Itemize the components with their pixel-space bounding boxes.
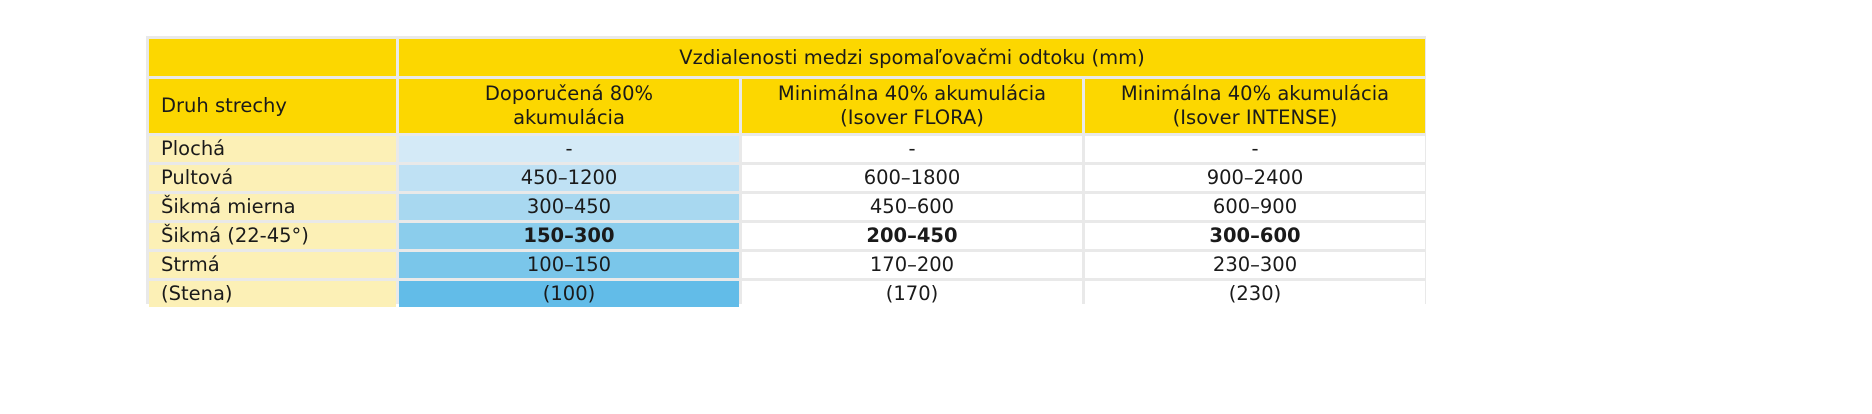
- cell-flora: 450–600: [742, 194, 1082, 220]
- table-row: Šikmá mierna 300–450 450–600 600–900: [149, 194, 1425, 220]
- cell-recommended: -: [399, 136, 739, 162]
- cell-recommended: 300–450: [399, 194, 739, 220]
- row-label: Šikmá (22-45°): [149, 223, 396, 249]
- cell-flora: 170–200: [742, 252, 1082, 278]
- table-row: Pultová 450–1200 600–1800 900–2400: [149, 165, 1425, 191]
- header-minimal-40-intense: Minimálna 40% akumulácia (Isover INTENSE…: [1085, 79, 1425, 133]
- cell-flora: (170): [742, 281, 1082, 307]
- cell-intense: 900–2400: [1085, 165, 1425, 191]
- cell-recommended: 150–300: [399, 223, 739, 249]
- header-roof-type: Druh strechy: [149, 79, 396, 133]
- header-minimal-40-intense-line2: (Isover INTENSE): [1173, 106, 1338, 129]
- table-row: Strmá 100–150 170–200 230–300: [149, 252, 1425, 278]
- table-row: (Stena) (100) (170) (230): [149, 281, 1425, 307]
- row-label: Pultová: [149, 165, 396, 191]
- header-recommended-80: Doporučená 80% akumulácia: [399, 79, 739, 133]
- row-label: Plochá: [149, 136, 396, 162]
- cell-recommended: (100): [399, 281, 739, 307]
- row-label: (Stena): [149, 281, 396, 307]
- header-minimal-40-flora-line1: Minimálna 40% akumulácia: [778, 82, 1046, 105]
- cell-intense: 300–600: [1085, 223, 1425, 249]
- cell-recommended: 100–150: [399, 252, 739, 278]
- cell-intense: 230–300: [1085, 252, 1425, 278]
- row-label: Šikmá mierna: [149, 194, 396, 220]
- cell-intense: -: [1085, 136, 1425, 162]
- distance-table-container: Vzdialenosti medzi spomaľovačmi odtoku (…: [146, 36, 1426, 304]
- table-row: Plochá - - -: [149, 136, 1425, 162]
- table-title: Vzdialenosti medzi spomaľovačmi odtoku (…: [399, 39, 1425, 76]
- cell-recommended: 450–1200: [399, 165, 739, 191]
- header-recommended-80-line1: Doporučená 80%: [485, 82, 653, 105]
- header-minimal-40-flora: Minimálna 40% akumulácia (Isover FLORA): [742, 79, 1082, 133]
- cell-flora: -: [742, 136, 1082, 162]
- cell-flora: 600–1800: [742, 165, 1082, 191]
- table-header-row: Druh strechy Doporučená 80% akumulácia M…: [149, 79, 1425, 133]
- header-minimal-40-intense-line1: Minimálna 40% akumulácia: [1121, 82, 1389, 105]
- cell-intense: 600–900: [1085, 194, 1425, 220]
- cell-flora: 200–450: [742, 223, 1082, 249]
- header-recommended-80-line2: akumulácia: [513, 106, 625, 129]
- table-row: Šikmá (22-45°) 150–300 200–450 300–600: [149, 223, 1425, 249]
- row-label: Strmá: [149, 252, 396, 278]
- cell-intense: (230): [1085, 281, 1425, 307]
- title-row-spacer: [149, 39, 396, 76]
- roof-drainage-table: Vzdialenosti medzi spomaľovačmi odtoku (…: [146, 36, 1428, 310]
- header-minimal-40-flora-line2: (Isover FLORA): [840, 106, 984, 129]
- table-title-row: Vzdialenosti medzi spomaľovačmi odtoku (…: [149, 39, 1425, 76]
